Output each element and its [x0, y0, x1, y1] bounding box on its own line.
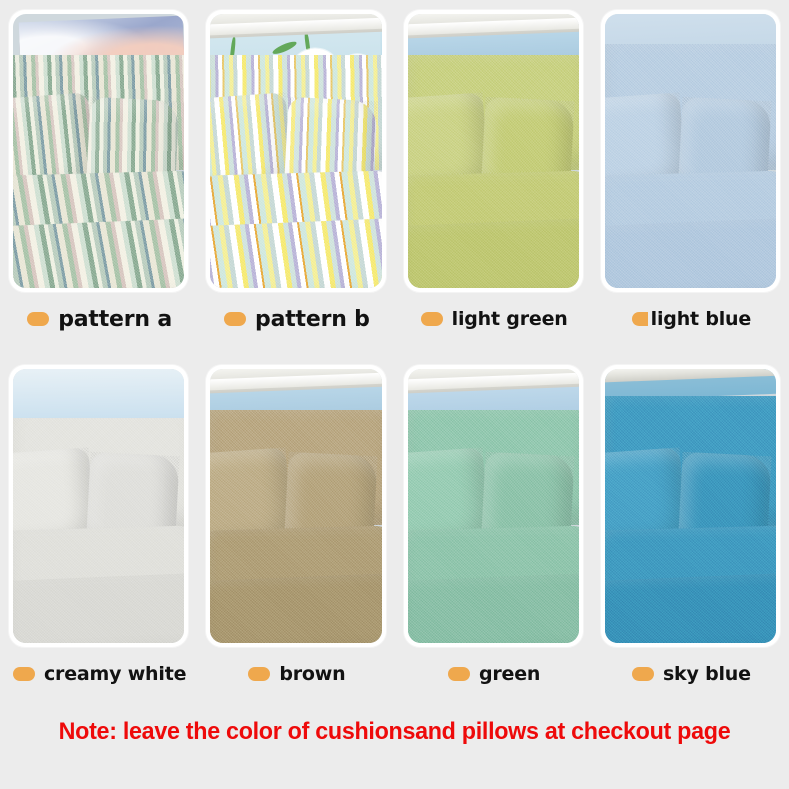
sofa-seat-front	[605, 218, 776, 288]
swatch-thumbnail-pattern-b[interactable]	[206, 10, 385, 292]
swatch-label-light-blue[interactable]: light blue	[592, 296, 789, 342]
bullet-dot-icon	[13, 667, 35, 681]
swatch-thumbnail-green[interactable]	[404, 365, 583, 647]
swatch-label-text: pattern a	[58, 307, 172, 332]
swatch-cell-pattern-a[interactable]: pattern a	[0, 0, 197, 355]
checkout-note: Note: leave the color of cushionsand pil…	[12, 718, 777, 746]
swatch-label-sky-blue[interactable]: sky blue	[592, 651, 789, 697]
swatch-thumbnail-light-blue[interactable]	[601, 10, 780, 292]
bullet-dot-icon	[248, 667, 270, 681]
swatch-cell-pattern-b[interactable]: pattern b	[197, 0, 394, 355]
swatch-label-brown[interactable]: brown	[197, 651, 394, 697]
sofa-image-light-green	[408, 14, 579, 288]
sofa-seat-front	[408, 573, 579, 643]
sofa-seat-front	[408, 218, 579, 288]
sofa-image-pattern-a	[13, 14, 184, 288]
bullet-dot-icon	[421, 312, 443, 326]
swatch-cell-light-blue[interactable]: light blue	[592, 0, 789, 355]
swatch-thumbnail-brown[interactable]	[206, 365, 385, 647]
swatch-label-creamy-white[interactable]: creamy white	[0, 651, 197, 697]
swatch-cell-creamy-white[interactable]: creamy white	[0, 355, 197, 710]
swatch-label-text: light blue	[651, 308, 751, 330]
bullet-dot-icon	[632, 312, 648, 326]
sofa-image-light-blue	[605, 14, 776, 288]
swatch-grid: pattern a	[0, 0, 789, 710]
swatch-label-light-green[interactable]: light green	[395, 296, 592, 342]
swatch-label-text: pattern b	[255, 307, 370, 332]
swatch-thumbnail-sky-blue[interactable]	[601, 365, 780, 647]
sofa-seat-front	[13, 218, 184, 288]
sofa-image-pattern-b	[210, 14, 381, 288]
bullet-dot-icon	[224, 312, 246, 326]
sofa-image-green	[408, 369, 579, 643]
swatch-label-text: creamy white	[44, 663, 186, 685]
sofa-seat-front	[210, 218, 381, 288]
color-swatch-page: pattern a	[0, 0, 789, 789]
swatch-label-text: light green	[452, 308, 568, 330]
swatch-label-pattern-a[interactable]: pattern a	[0, 296, 197, 342]
swatch-cell-green[interactable]: green	[395, 355, 592, 710]
swatch-label-pattern-b[interactable]: pattern b	[197, 296, 394, 342]
sofa-image-sky-blue	[605, 369, 776, 643]
sofa-image-brown	[210, 369, 381, 643]
swatch-label-text: green	[479, 663, 540, 685]
sofa-seat-front	[210, 573, 381, 643]
swatch-cell-sky-blue[interactable]: sky blue	[592, 355, 789, 710]
swatch-label-green[interactable]: green	[395, 651, 592, 697]
swatch-label-text: sky blue	[663, 663, 751, 685]
bullet-dot-icon	[632, 667, 654, 681]
bullet-dot-icon	[448, 667, 470, 681]
bullet-dot-icon	[27, 312, 49, 326]
swatch-row-bottom: creamy white	[0, 355, 789, 710]
sofa-seat-front	[605, 573, 776, 643]
swatch-row-top: pattern a	[0, 0, 789, 355]
sofa-image-creamy-white	[13, 369, 184, 643]
swatch-thumbnail-creamy-white[interactable]	[9, 365, 188, 647]
swatch-label-text: brown	[279, 663, 345, 685]
swatch-cell-light-green[interactable]: light green	[395, 0, 592, 355]
swatch-cell-brown[interactable]: brown	[197, 355, 394, 710]
sofa-seat-front	[13, 573, 184, 643]
swatch-thumbnail-pattern-a[interactable]	[9, 10, 188, 292]
swatch-thumbnail-light-green[interactable]	[404, 10, 583, 292]
